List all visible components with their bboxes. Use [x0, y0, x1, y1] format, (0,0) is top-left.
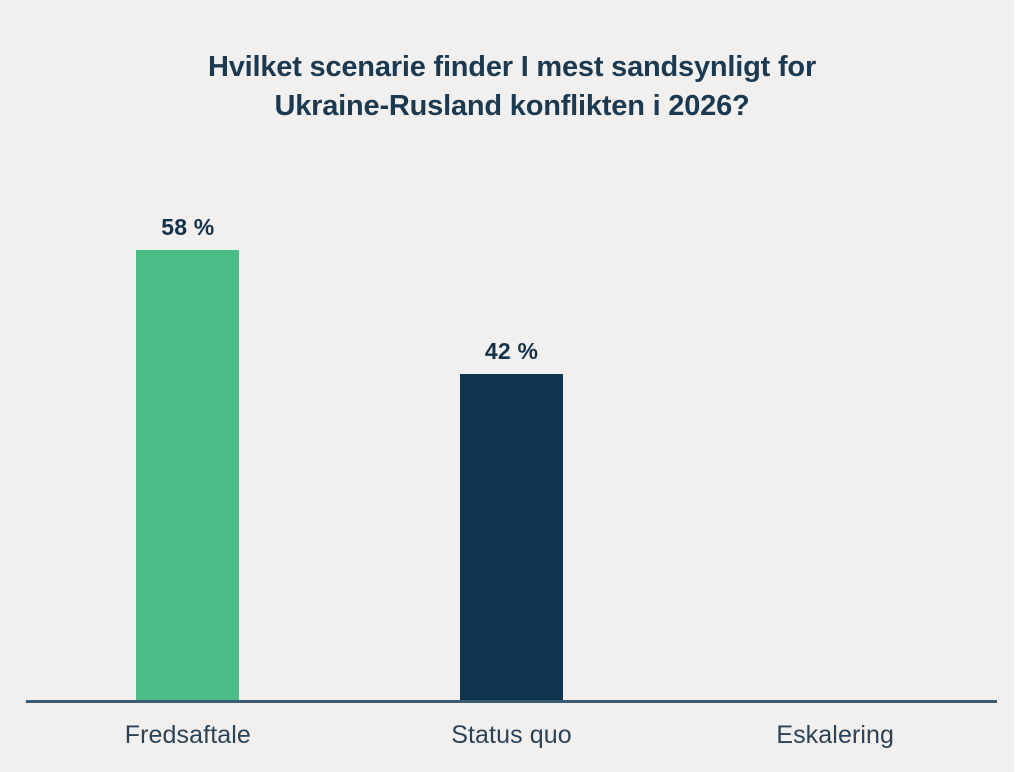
bar-fredsaftale[interactable]: [136, 250, 239, 700]
bar-status-quo[interactable]: [460, 374, 563, 700]
bar-slot-status-quo: 42 %: [350, 160, 674, 700]
bar-value-label-fredsaftale: 58 %: [161, 214, 214, 241]
bars-track: 58 % 42 %: [26, 160, 997, 700]
category-label-fredsaftale: Fredsaftale: [26, 712, 350, 762]
plot-area: 58 % 42 %: [26, 160, 997, 703]
bar-slot-eskalering: [673, 160, 997, 700]
category-label-status-quo: Status quo: [350, 712, 674, 762]
category-label-eskalering: Eskalering: [673, 712, 997, 762]
poll-result-chart: Hvilket scenarie finder I mest sandsynli…: [0, 0, 1024, 772]
bar-slot-fredsaftale: 58 %: [26, 160, 350, 700]
category-axis-labels: Fredsaftale Status quo Eskalering: [26, 712, 997, 762]
bar-value-label-status-quo: 42 %: [485, 338, 538, 365]
x-axis-baseline: [26, 700, 997, 703]
chart-title-line-1: Hvilket scenarie finder I mest sandsynli…: [60, 48, 964, 87]
chart-title: Hvilket scenarie finder I mest sandsynli…: [0, 48, 1024, 126]
right-edge-strip: [1014, 0, 1024, 772]
chart-title-line-2: Ukraine-Rusland konflikten i 2026?: [60, 87, 964, 126]
